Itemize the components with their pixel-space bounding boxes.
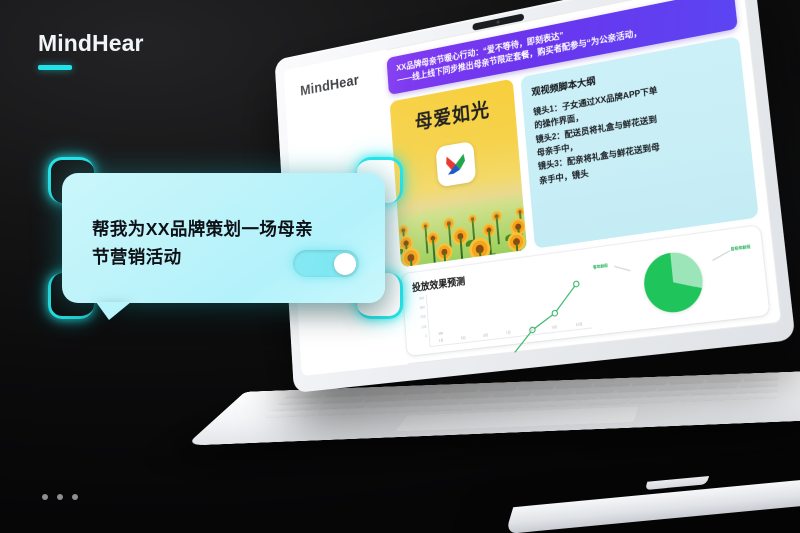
- laptop-front-notch: [645, 476, 709, 490]
- screenshot-root: MindHear: [0, 0, 800, 533]
- prompt-toggle-switch[interactable]: [293, 250, 359, 277]
- pie-leader-line: [712, 250, 730, 260]
- key: [318, 409, 372, 416]
- forecast-chart: 投放效果预测 560 384 256 128 0 3: [412, 257, 593, 349]
- brand-name: MindHear: [38, 30, 144, 57]
- key: [424, 405, 476, 412]
- campaign-poster: 母爱如光: [390, 79, 528, 268]
- script-outline-panel: 观视频脚本大纲 镜头1：子女通过XX品牌APP下单 的操作界面， 镜头2：配送员…: [520, 36, 758, 249]
- x-tick: 6月: [483, 332, 488, 338]
- audience-pie-chart: 客年龄段 目标年龄段: [592, 235, 757, 328]
- pagination-dots[interactable]: [42, 494, 78, 500]
- key: [579, 399, 628, 406]
- x-tick: 9月: [552, 324, 557, 330]
- key: [476, 403, 527, 410]
- x-tick: 7月: [506, 329, 511, 335]
- key: [371, 407, 424, 414]
- brand-accent-rule: [38, 65, 72, 70]
- pagination-dot[interactable]: [42, 494, 48, 500]
- laptop-front-edge: [505, 456, 800, 533]
- brand-logo: MindHear: [38, 30, 144, 70]
- y-tick: 560: [419, 297, 424, 301]
- laptop-base: [185, 371, 800, 446]
- prompt-bubble: 帮我为XX品牌策划一场母亲 节营销活动: [52, 163, 397, 313]
- key: [265, 411, 320, 418]
- x-brand-logo-icon: [436, 141, 477, 188]
- x-tick: 8月: [529, 327, 534, 333]
- y-tick: 128: [421, 325, 426, 329]
- x-tick: 4月: [439, 337, 444, 343]
- pie-label-left: 客年龄段: [593, 264, 608, 271]
- toggle-knob: [334, 253, 356, 275]
- bubble-tail: [96, 302, 131, 320]
- y-tick: 256: [420, 316, 425, 320]
- sunflower-field: [396, 177, 527, 267]
- key: [527, 401, 577, 408]
- key: [730, 393, 777, 400]
- poster-title: 母爱如光: [390, 90, 516, 139]
- pie-leader-line: [614, 266, 630, 271]
- pagination-dot[interactable]: [57, 494, 63, 500]
- x-tick: 5月: [461, 335, 466, 341]
- sidebar-brand: MindHear: [300, 67, 388, 99]
- pie-label-right: 目标年龄段: [730, 245, 751, 253]
- key: [629, 397, 678, 404]
- y-tick: 0: [425, 335, 427, 338]
- pagination-dot[interactable]: [72, 494, 78, 500]
- prompt-bubble-body: 帮我为XX品牌策划一场母亲 节营销活动: [62, 173, 385, 303]
- prompt-text-line-1: 帮我为XX品牌策划一场母亲: [92, 215, 359, 243]
- app-canvas: XX品牌母亲节暖心行动：“爱不等待，即刻表达” ——线上线下同步推出母亲节限定套…: [386, 0, 782, 364]
- key: [680, 395, 728, 402]
- pie-slices: [641, 249, 705, 315]
- y-tick: 384: [420, 307, 425, 311]
- x-tick: 10月: [575, 321, 582, 327]
